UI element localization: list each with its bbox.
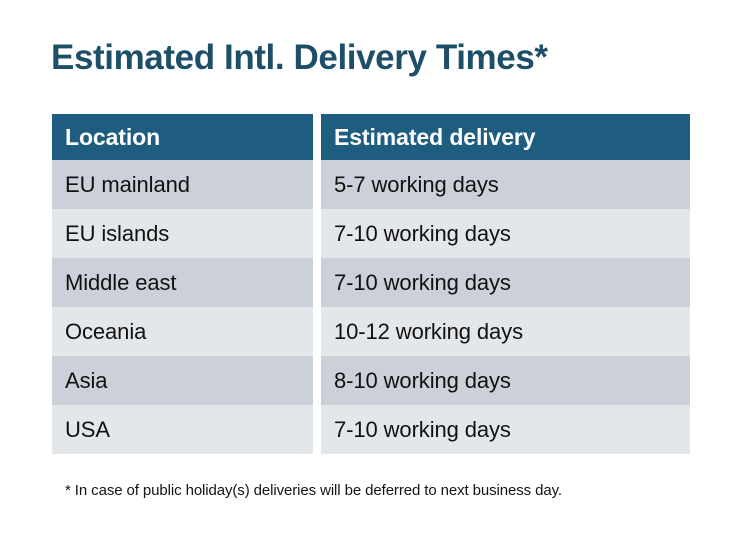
table-row: EU islands 7-10 working days: [52, 209, 690, 258]
cell-delivery: 5-7 working days: [321, 160, 690, 209]
table-row: USA 7-10 working days: [52, 405, 690, 454]
cell-delivery: 7-10 working days: [321, 209, 690, 258]
column-header-location: Location: [52, 114, 313, 160]
cell-delivery: 7-10 working days: [321, 258, 690, 307]
delivery-times-page: Estimated Intl. Delivery Times* Location…: [0, 0, 745, 536]
cell-location: USA: [52, 405, 313, 454]
table-row: Middle east 7-10 working days: [52, 258, 690, 307]
column-header-estimated-delivery: Estimated delivery: [321, 114, 690, 160]
table-row: Oceania 10-12 working days: [52, 307, 690, 356]
page-title: Estimated Intl. Delivery Times*: [51, 36, 548, 80]
cell-delivery: 7-10 working days: [321, 405, 690, 454]
delivery-times-table: Location Estimated delivery EU mainland …: [52, 114, 690, 454]
cell-location: EU islands: [52, 209, 313, 258]
cell-delivery: 10-12 working days: [321, 307, 690, 356]
cell-location: Middle east: [52, 258, 313, 307]
table-row: EU mainland 5-7 working days: [52, 160, 690, 209]
cell-location: Oceania: [52, 307, 313, 356]
cell-location: Asia: [52, 356, 313, 405]
cell-delivery: 8-10 working days: [321, 356, 690, 405]
table-header-row: Location Estimated delivery: [52, 114, 690, 160]
table-row: Asia 8-10 working days: [52, 356, 690, 405]
cell-location: EU mainland: [52, 160, 313, 209]
footnote-text: * In case of public holiday(s) deliverie…: [65, 481, 562, 501]
